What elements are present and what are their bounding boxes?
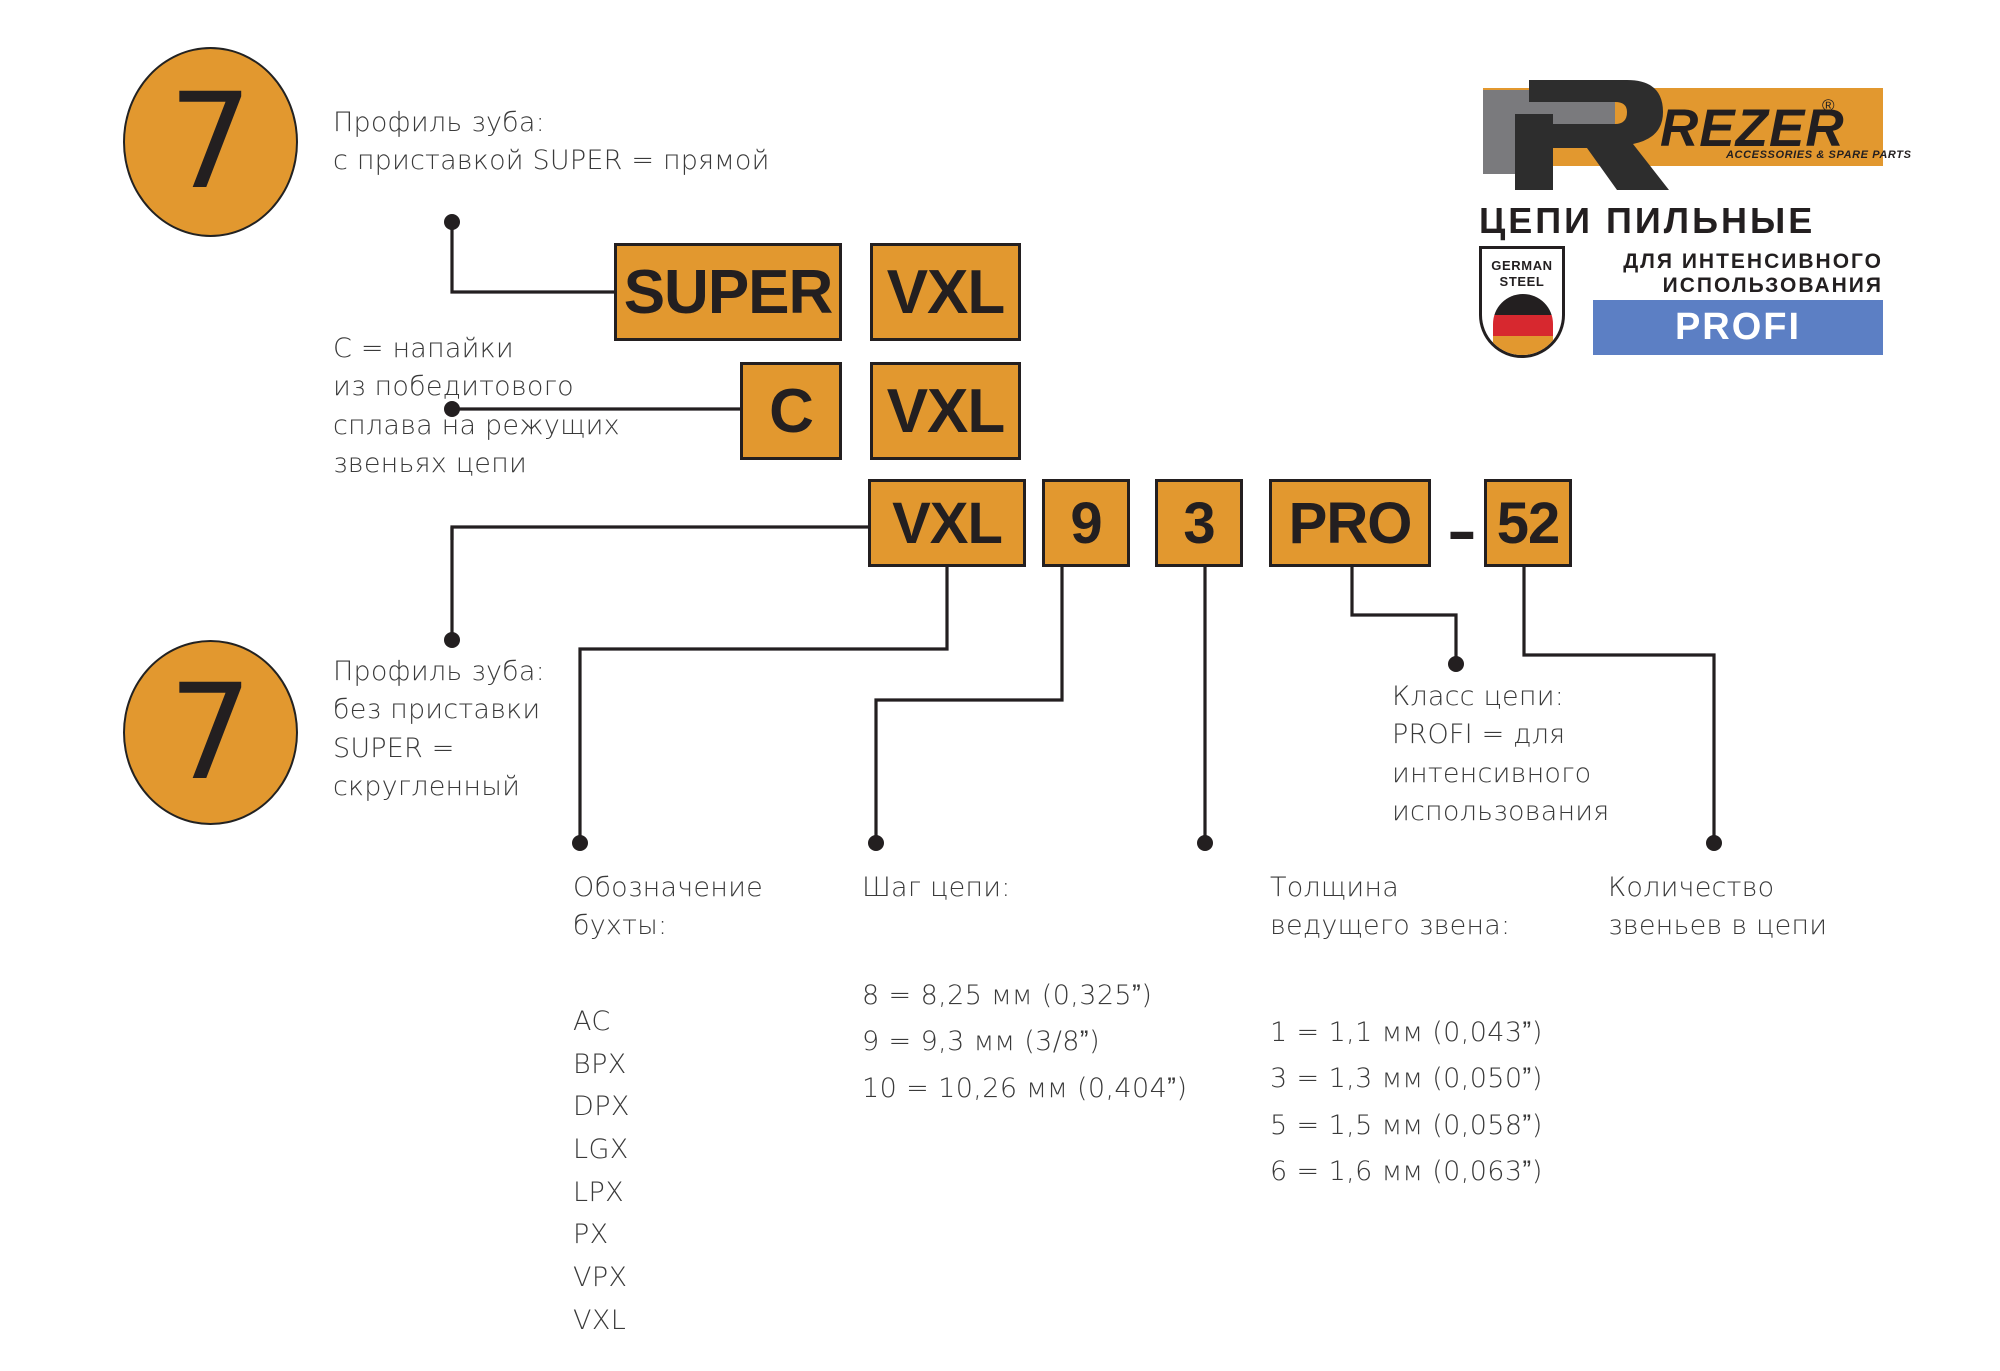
legend-links-title: Количество звеньев в цепи	[1608, 869, 1938, 946]
code-box-class[interactable]: PRO	[1269, 479, 1431, 567]
code-box-vxl-main-label: VXL	[892, 490, 1002, 557]
logo-profi-label: PROFI	[1675, 306, 1801, 349]
shield-line-1: GERMAN	[1482, 258, 1562, 274]
code-box-c[interactable]: C	[740, 362, 842, 460]
code-box-super-label: SUPER	[624, 257, 833, 328]
flag-band-red	[1493, 315, 1553, 336]
code-box-class-label: PRO	[1289, 490, 1412, 557]
list-item: 8 = 8,25 мм (0,325ˮ)	[862, 973, 1222, 1019]
german-flag-icon	[1493, 294, 1553, 356]
logo-brand-tagline: ACCESSORIES & SPARE PARTS	[1726, 149, 1912, 161]
code-separator-dash: –	[1437, 487, 1487, 575]
list-item: AC	[573, 1001, 833, 1044]
logo-registered-mark: ®	[1822, 96, 1835, 116]
badge-bottom-number: 7	[169, 667, 253, 799]
flag-band-gold	[1493, 336, 1553, 356]
list-item: BPX	[573, 1044, 833, 1087]
code-box-gauge[interactable]: 3	[1155, 479, 1243, 567]
code-box-vxl-c[interactable]: VXL	[870, 362, 1021, 460]
code-box-links[interactable]: 52	[1484, 479, 1572, 567]
code-box-vxl-super-label: VXL	[887, 257, 1005, 328]
legend-gauge-title: Толщина ведущего звена:	[1270, 869, 1600, 946]
list-item: VPX	[573, 1257, 833, 1300]
code-box-links-label: 52	[1497, 490, 1560, 557]
badge-top-number: 7	[169, 76, 253, 208]
rezer-logo-block: REZER ® ACCESSORIES & SPARE PARTS ЦЕПИ П…	[1455, 60, 1955, 320]
note-chain-class: Класс цепи: PROFI = для интенсивного исп…	[1392, 678, 1722, 831]
list-item: 5 = 1,5 мм (0,058ˮ)	[1270, 1103, 1610, 1149]
code-box-pitch-label: 9	[1070, 490, 1101, 557]
logo-headline: ЦЕПИ ПИЛЬНЫЕ	[1479, 200, 1815, 242]
code-box-vxl-super[interactable]: VXL	[870, 243, 1021, 341]
legend-gauge-items: 1 = 1,1 мм (0,043ˮ) 3 = 1,3 мм (0,050ˮ) …	[1270, 1010, 1610, 1196]
german-steel-shield: GERMAN STEEL	[1479, 246, 1565, 358]
infographic-canvas: 7 Профиль зуба: с приставкой SUPER = пря…	[0, 0, 2000, 1371]
list-item: PX	[573, 1214, 833, 1257]
list-item: LPX	[573, 1172, 833, 1215]
code-box-vxl-c-label: VXL	[887, 376, 1005, 447]
badge-bottom: 7	[123, 640, 298, 825]
list-item: 1 = 1,1 мм (0,043ˮ)	[1270, 1010, 1610, 1056]
code-box-vxl-main[interactable]: VXL	[868, 479, 1026, 567]
logo-r-mark	[1477, 78, 1677, 193]
code-box-c-label: C	[769, 376, 813, 447]
legend-coil-title: Обозначение бухты:	[573, 869, 873, 946]
legend-pitch-title: Шаг цепи:	[862, 869, 1192, 907]
list-item: 10 = 10,26 мм (0,404ˮ)	[862, 1066, 1222, 1112]
code-box-pitch[interactable]: 9	[1042, 479, 1130, 567]
list-item: DPX	[573, 1086, 833, 1129]
note-tooth-profile-super: Профиль зуба: с приставкой SUPER = прямо…	[333, 104, 853, 181]
logo-subline: ДЛЯ ИНТЕНСИВНОГО ИСПОЛЬЗОВАНИЯ	[1583, 250, 1883, 297]
note-tooth-profile-plain: Профиль зуба: без приставки SUPER = скру…	[333, 653, 713, 806]
flag-band-black	[1493, 294, 1553, 315]
list-item: 3 = 1,3 мм (0,050ˮ)	[1270, 1056, 1610, 1102]
logo-profi-chip: PROFI	[1593, 300, 1883, 355]
list-item: 6 = 1,6 мм (0,063ˮ)	[1270, 1149, 1610, 1195]
list-item: LGX	[573, 1129, 833, 1172]
badge-top: 7	[123, 47, 298, 237]
code-box-super[interactable]: SUPER	[614, 243, 842, 341]
shield-line-2: STEEL	[1482, 274, 1562, 290]
code-box-gauge-label: 3	[1183, 490, 1214, 557]
list-item: 9 = 9,3 мм (3/8ˮ)	[862, 1019, 1222, 1065]
note-carbide-tips: C = напайки из победитового сплава на ре…	[333, 330, 753, 483]
legend-pitch-items: 8 = 8,25 мм (0,325ˮ) 9 = 9,3 мм (3/8ˮ) 1…	[862, 973, 1222, 1112]
list-item: VXL	[573, 1300, 833, 1343]
legend-coil-items: AC BPX DPX LGX LPX PX VPX VXL	[573, 1001, 833, 1342]
